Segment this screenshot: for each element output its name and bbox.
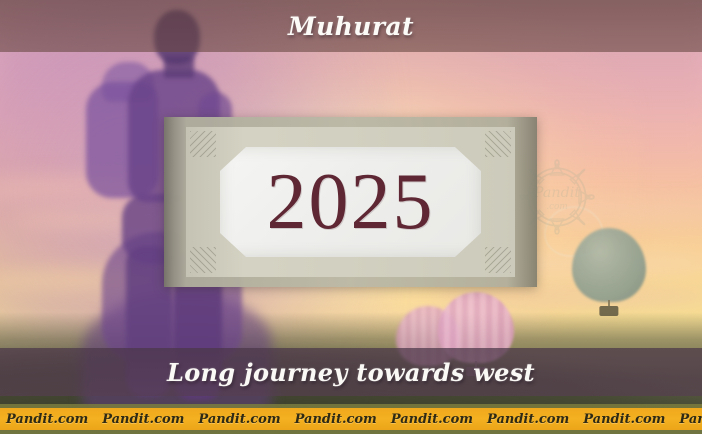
watermark-text: Pandit.com [391,412,473,427]
corner-ornament-icon [190,247,216,273]
corner-ornament-icon [485,131,511,157]
year-plaque-inner-frame: 2025 [186,127,515,277]
watermark-text: Pandit.com [102,412,184,427]
watermark-strip: Pandit.comPandit.comPandit.comPandit.com… [0,404,702,434]
corner-ornament-icon [190,131,216,157]
year-plaque-frame: 2025 [164,117,537,287]
watermark-text: Pandit.com [679,412,702,427]
year-plate: 2025 [220,147,481,257]
watermark-text: Pandit.com [295,412,377,427]
watermark-text: Pandit.com [583,412,665,427]
watermark-text: Pandit.com [198,412,280,427]
hot-air-balloon [572,228,646,316]
page-subtitle: Long journey towards west [167,358,535,387]
watermark-text: Pandit.com [6,412,88,427]
watermark-text: Pandit.com [487,412,569,427]
bottom-banner: Long journey towards west [0,348,702,396]
top-banner: Muhurat [0,0,702,52]
watermark-row: Pandit.comPandit.comPandit.comPandit.com… [0,412,702,427]
year-value: 2025 [267,162,435,242]
balloon-envelope [572,228,646,302]
muhurat-card: Pandit .com Muhurat 2025 Long journey to… [0,0,702,434]
balloon-basket [599,306,618,316]
corner-ornament-icon [485,247,511,273]
page-title: Muhurat [288,12,414,41]
